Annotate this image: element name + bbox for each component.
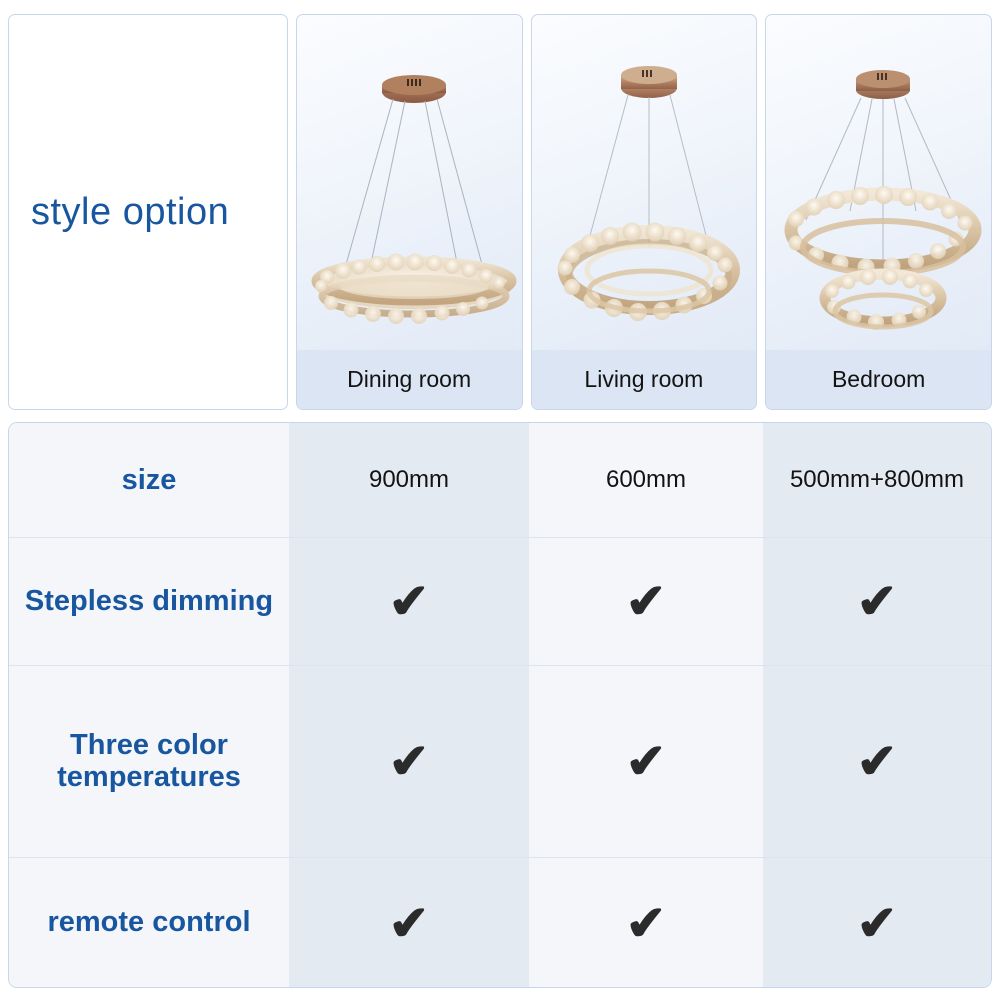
product-label-dining-room: Dining room <box>297 350 522 409</box>
row-label-three-color-temperatures: Three color temperatures <box>9 666 289 858</box>
product-label-bedroom: Bedroom <box>766 350 991 409</box>
style-option-header: style option <box>8 14 992 410</box>
product-image-dining-room <box>297 15 522 350</box>
product-card-bedroom[interactable]: Bedroom <box>765 14 992 410</box>
check-icon: ✔ <box>624 577 669 626</box>
row-label-remote-control: remote control <box>9 858 289 987</box>
table-row-stepless-dimming: Stepless dimming ✔ ✔ ✔ <box>9 538 991 666</box>
check-icon: ✔ <box>855 898 900 947</box>
cell-size-bedroom: 500mm+800mm <box>763 423 991 537</box>
row-label-line-1: Three color <box>70 729 228 761</box>
pendant-ring-lamp-round-icon <box>532 15 758 345</box>
page-title: style option <box>31 191 229 234</box>
row-label-stepless-dimming: Stepless dimming <box>9 538 289 665</box>
product-card-living-room[interactable]: Living room <box>531 14 758 410</box>
product-label-living-room: Living room <box>532 350 757 409</box>
check-icon: ✔ <box>624 898 669 947</box>
cell-remote-control-bedroom: ✔ <box>763 858 991 987</box>
table-row-remote-control: remote control ✔ ✔ ✔ <box>9 858 991 987</box>
product-image-living-room <box>532 15 757 350</box>
check-icon: ✔ <box>387 898 432 947</box>
check-icon: ✔ <box>855 737 900 786</box>
cell-size-living-room: 600mm <box>529 423 763 537</box>
spec-comparison-table: size 900mm 600mm 500mm+800mm Stepless di… <box>8 422 992 988</box>
cell-stepless-dimming-living-room: ✔ <box>529 538 763 665</box>
cell-three-color-temperatures-living-room: ✔ <box>529 666 763 858</box>
cell-remote-control-living-room: ✔ <box>529 858 763 987</box>
product-image-bedroom <box>766 15 991 350</box>
check-icon: ✔ <box>387 737 432 786</box>
check-icon: ✔ <box>387 577 432 626</box>
cell-three-color-temperatures-bedroom: ✔ <box>763 666 991 858</box>
check-icon: ✔ <box>855 577 900 626</box>
style-option-title-card: style option <box>8 14 288 410</box>
cell-three-color-temperatures-dining-room: ✔ <box>289 666 529 858</box>
check-icon: ✔ <box>624 737 669 786</box>
cell-remote-control-dining-room: ✔ <box>289 858 529 987</box>
cell-stepless-dimming-dining-room: ✔ <box>289 538 529 665</box>
comparison-infographic: style option <box>0 0 1000 1000</box>
row-label-line-2: temperatures <box>57 761 241 793</box>
row-label-size: size <box>9 423 289 537</box>
cell-size-dining-room: 900mm <box>289 423 529 537</box>
pendant-ring-lamp-two-tier-icon <box>766 15 992 345</box>
pendant-ring-lamp-wide-icon <box>297 15 523 345</box>
product-card-dining-room[interactable]: Dining room <box>296 14 523 410</box>
table-row-size: size 900mm 600mm 500mm+800mm <box>9 423 991 538</box>
cell-stepless-dimming-bedroom: ✔ <box>763 538 991 665</box>
table-row-three-color-temperatures: Three color temperatures ✔ ✔ ✔ <box>9 666 991 859</box>
